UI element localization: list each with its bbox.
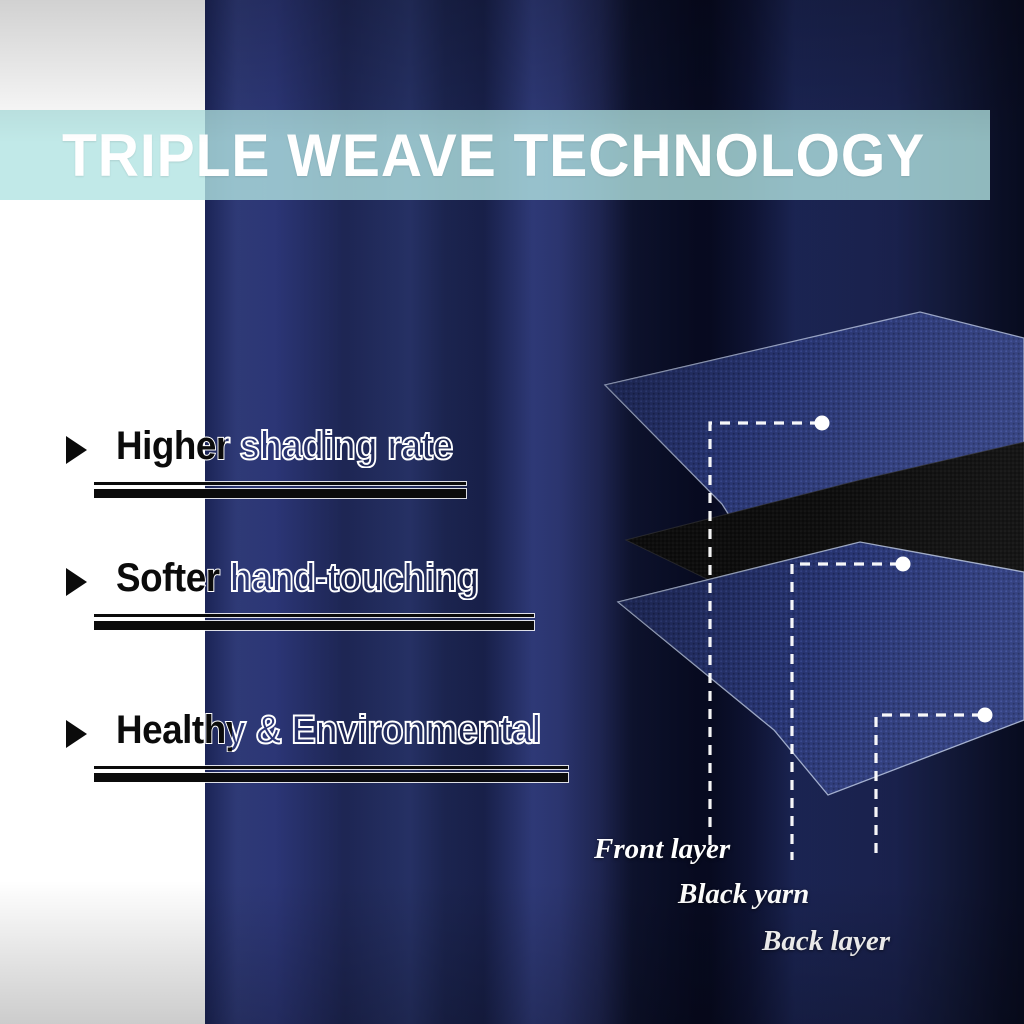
bullet-triangle-icon	[66, 720, 87, 748]
callout-dot-black-yarn	[896, 557, 911, 572]
rule-thin-line	[94, 482, 466, 485]
rule-thick-line	[94, 489, 466, 498]
rule-thin-line	[94, 614, 534, 617]
rule-thick-line	[94, 621, 534, 630]
rule-thick-line	[94, 773, 568, 782]
feature-3-rule	[66, 766, 626, 784]
label-front-layer: Front layer	[594, 833, 730, 866]
callout-dot-front-layer	[815, 416, 830, 431]
callout-dot-back-layer	[978, 708, 993, 723]
label-black-yarn: Black yarn	[678, 878, 809, 911]
feature-item-1: Higher shading rate Higher shading rate	[66, 424, 626, 500]
label-back-layer: Back layer	[762, 925, 890, 958]
layer-back-sheet	[618, 542, 1024, 795]
feature-item-2: Softer hand-touching Softer hand-touchin…	[66, 556, 626, 632]
feature-1-rule	[66, 482, 626, 500]
feature-2-rule	[66, 614, 626, 632]
bullet-triangle-icon	[66, 436, 87, 464]
rule-thin-line	[94, 766, 568, 769]
title-banner: TRIPLE WEAVE TECHNOLOGY	[0, 110, 990, 200]
triple-weave-layer-diagram	[560, 290, 1024, 860]
feature-item-3: Healthy & Environmental Healthy & Enviro…	[66, 708, 626, 784]
bullet-triangle-icon	[66, 568, 87, 596]
page-title: TRIPLE WEAVE TECHNOLOGY	[62, 121, 925, 190]
product-infographic: Front layer Black yarn Back layer Higher…	[0, 0, 1024, 1024]
